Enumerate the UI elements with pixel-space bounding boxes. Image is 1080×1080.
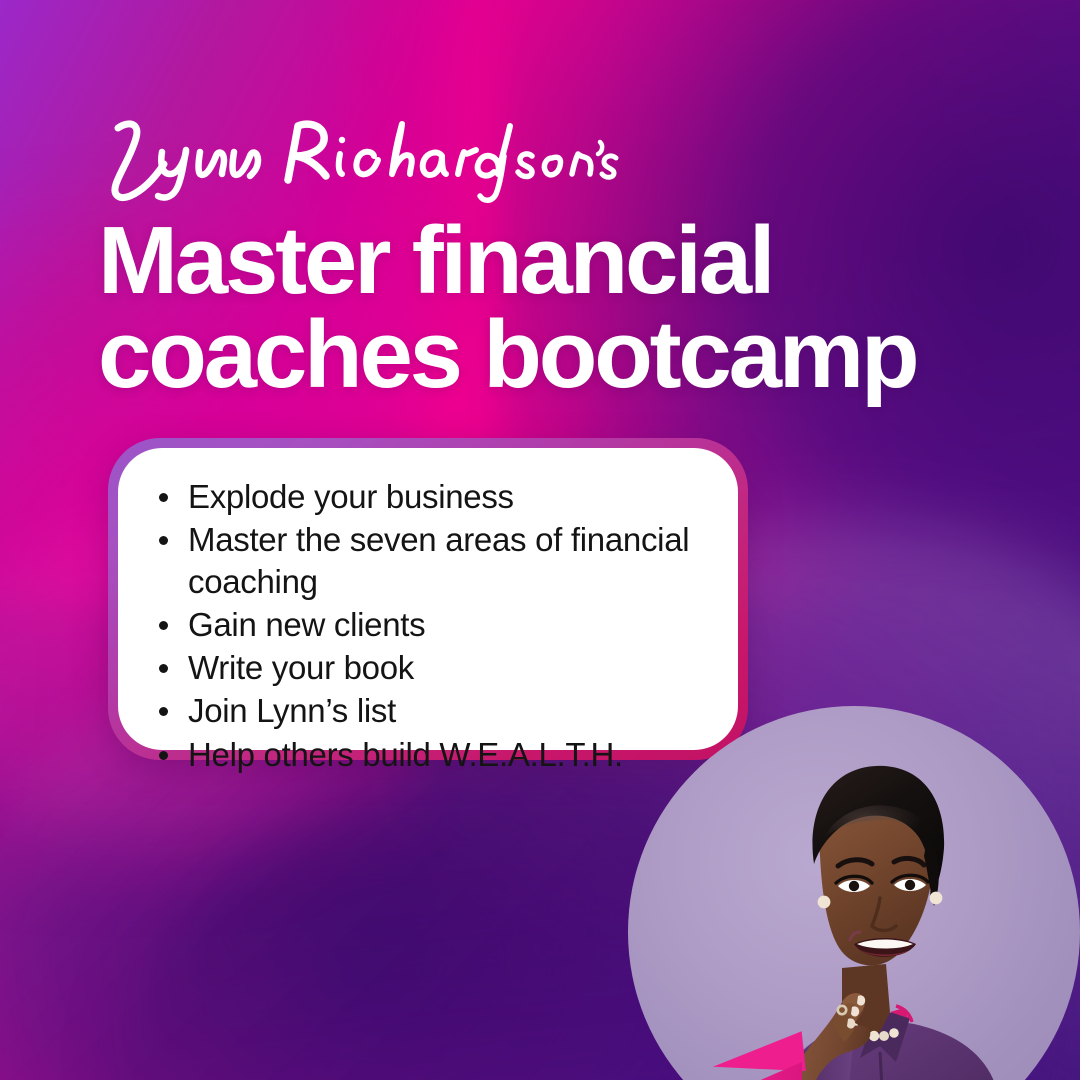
list-item: Master the seven areas of financial coac…	[152, 519, 708, 602]
page-title: Master financial coaches bootcamp	[98, 214, 978, 402]
avatar	[628, 706, 1080, 1080]
list-item: Help others build W.E.A.L.T.H.	[152, 734, 708, 775]
earring-right	[930, 892, 943, 905]
portrait-circle	[628, 706, 1080, 1080]
signature-script-icon	[100, 112, 620, 204]
list-item: Write your book	[152, 647, 708, 688]
headline-line-1: Master financial	[98, 214, 978, 308]
earring-left	[818, 896, 831, 909]
portrait-stage	[628, 706, 1080, 1080]
brand-signature	[100, 112, 620, 204]
list-item: Join Lynn’s list	[152, 690, 708, 731]
list-item: Explode your business	[152, 476, 708, 517]
benefits-list: Explode your business Master the seven a…	[152, 476, 708, 777]
promo-poster: Master financial coaches bootcamp Explod…	[0, 0, 1080, 1080]
list-item: Gain new clients	[152, 604, 708, 645]
headline-line-2: coaches bootcamp	[98, 308, 978, 402]
benefits-card-inner: Explode your business Master the seven a…	[118, 448, 738, 750]
